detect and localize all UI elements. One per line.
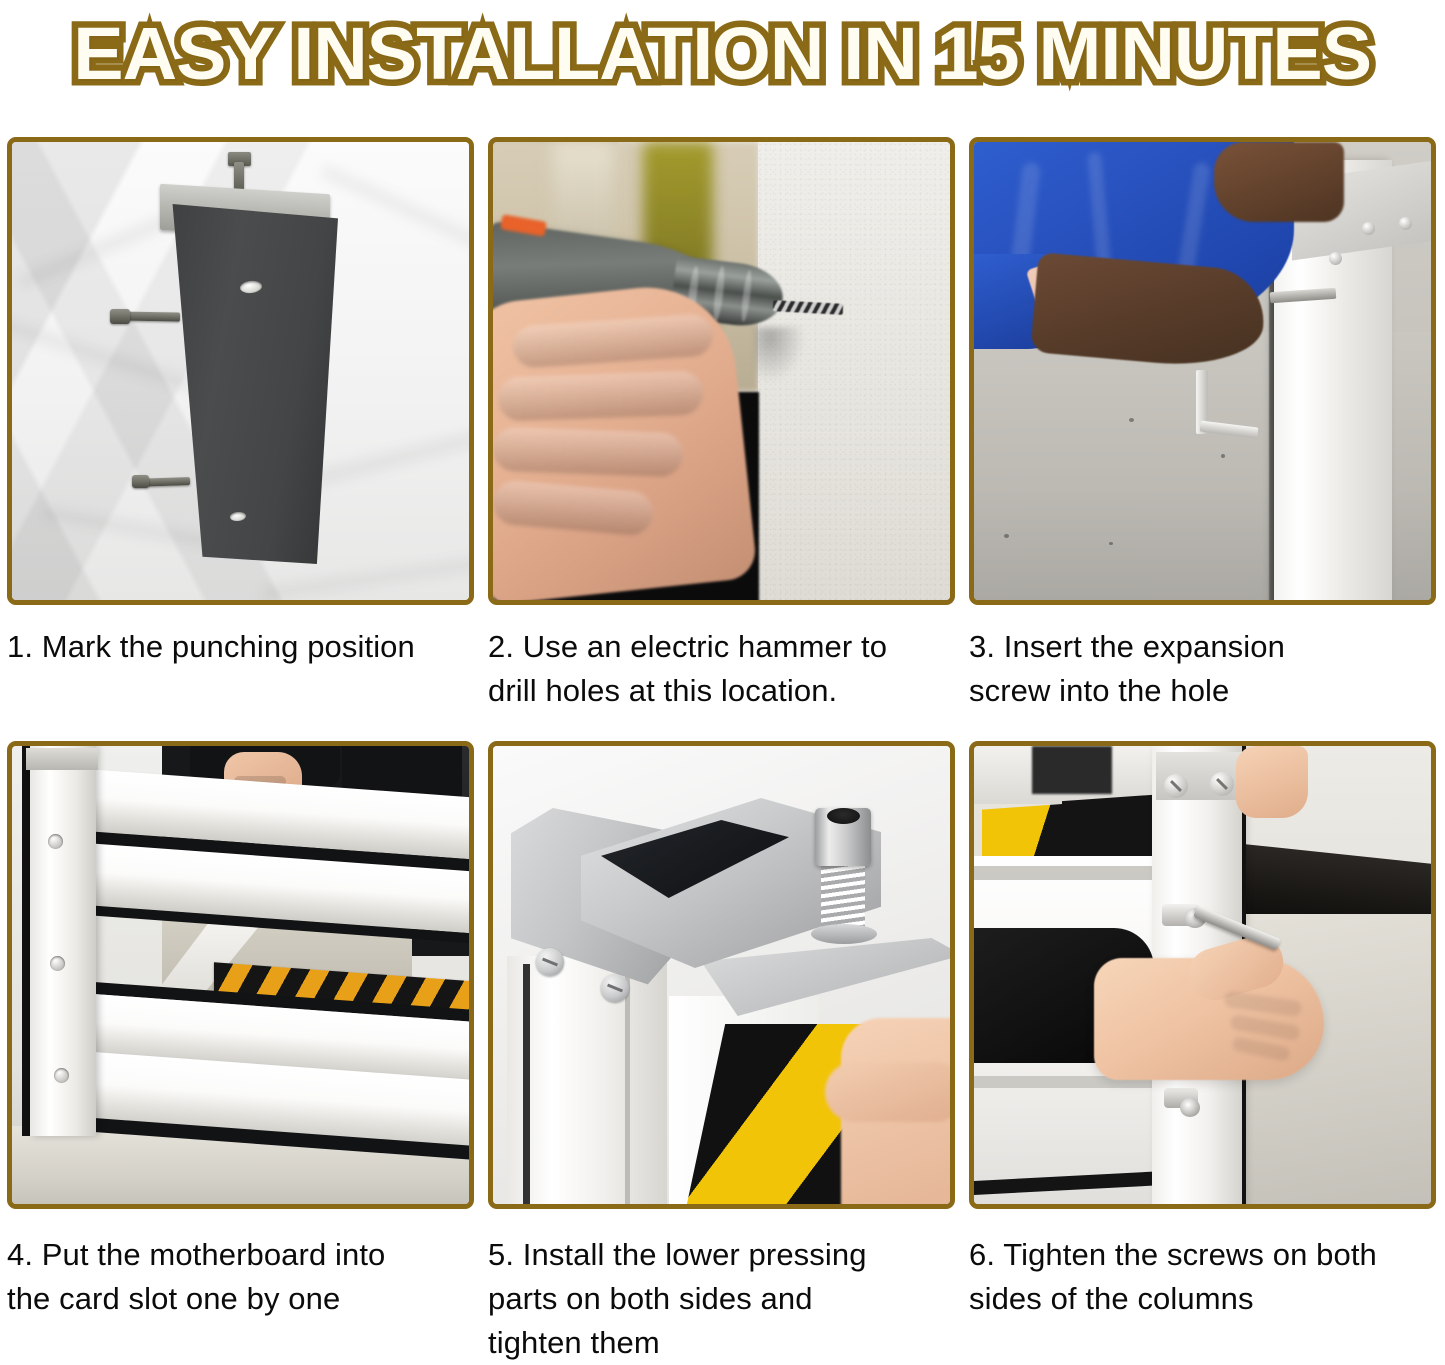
photo-frame-6 bbox=[969, 741, 1436, 1209]
photo-step-1-mark-position bbox=[12, 142, 469, 600]
finger bbox=[493, 427, 684, 478]
steps-row-top: 1. Mark the punching position bbox=[7, 137, 1438, 713]
column-screw bbox=[1362, 222, 1375, 235]
caption-line: the card slot one by one bbox=[7, 1277, 469, 1321]
column-groove bbox=[523, 964, 530, 1204]
step-caption-2: 2. Use an electric hammer to drill holes… bbox=[488, 625, 950, 713]
photo-step-2-drill-holes bbox=[493, 142, 950, 600]
bracket-screw bbox=[601, 974, 629, 1002]
second-hand bbox=[1236, 746, 1308, 818]
post-top-plate bbox=[26, 748, 98, 770]
photo-frame-4 bbox=[7, 741, 474, 1209]
photo-step-3-insert-screw bbox=[974, 142, 1431, 600]
caption-line: screw into the hole bbox=[969, 669, 1431, 713]
bracket-screw bbox=[536, 948, 564, 976]
mounting-column-body bbox=[162, 204, 338, 564]
supporting-fingers bbox=[825, 1062, 950, 1122]
caption-line: drill holes at this location. bbox=[488, 669, 950, 713]
column-screw bbox=[1329, 252, 1342, 265]
caption-line: 5. Install the lower pressing bbox=[488, 1233, 950, 1277]
column-screw bbox=[1399, 217, 1412, 230]
upper-gap-shadow bbox=[1032, 746, 1112, 794]
expansion-bolt-lower-head bbox=[132, 475, 149, 488]
post-screw-hole bbox=[48, 834, 63, 849]
step-card-3: 3. Insert the expansion screw into the h… bbox=[969, 137, 1436, 713]
sheet-wrinkle bbox=[42, 506, 221, 549]
steps-grid: 1. Mark the punching position bbox=[7, 137, 1438, 1365]
post-screw-hole bbox=[54, 1068, 69, 1083]
caption-line: 1. Mark the punching position bbox=[7, 625, 469, 669]
photo-step-6-tighten-screws bbox=[974, 746, 1431, 1204]
step-caption-6: 6. Tighten the screws on both sides of t… bbox=[969, 1233, 1431, 1321]
step-card-4: 4. Put the motherboard into the card slo… bbox=[7, 741, 474, 1365]
photo-frame-2 bbox=[488, 137, 955, 605]
photo-frame-3 bbox=[969, 137, 1436, 605]
step-card-2: 2. Use an electric hammer to drill holes… bbox=[488, 137, 955, 713]
caption-line: tighten them bbox=[488, 1321, 950, 1365]
sheet-wrinkle bbox=[320, 164, 469, 273]
step-caption-1: 1. Mark the punching position bbox=[7, 625, 469, 669]
photo-frame-1 bbox=[7, 137, 474, 605]
step-caption-4: 4. Put the motherboard into the card slo… bbox=[7, 1233, 469, 1321]
sheet-wrinkle bbox=[304, 411, 469, 488]
floor-debris bbox=[1004, 534, 1009, 538]
caption-line: 4. Put the motherboard into bbox=[7, 1233, 469, 1277]
floor-debris bbox=[1221, 454, 1225, 458]
row-spacer bbox=[7, 713, 1438, 741]
floor-debris bbox=[1129, 418, 1134, 422]
floor-debris bbox=[1109, 542, 1113, 545]
step-card-6: 6. Tighten the screws on both sides of t… bbox=[969, 741, 1436, 1365]
step-card-1: 1. Mark the punching position bbox=[7, 137, 474, 713]
step-caption-5: 5. Install the lower pressing parts on b… bbox=[488, 1233, 950, 1365]
caption-line: parts on both sides and bbox=[488, 1277, 950, 1321]
photo-step-4-insert-boards bbox=[12, 746, 469, 1204]
caption-line: 3. Insert the expansion bbox=[969, 625, 1431, 669]
side-screw-lower-head bbox=[1180, 1098, 1200, 1117]
caption-line: sides of the columns bbox=[969, 1277, 1431, 1321]
installation-infographic: EASY INSTALLATION IN 15 MINUTES bbox=[0, 0, 1445, 1352]
column-screw bbox=[1210, 772, 1234, 796]
expansion-bolt-upper-head bbox=[110, 309, 130, 324]
white-column bbox=[507, 956, 667, 1204]
worker-upper-hand bbox=[1214, 142, 1344, 222]
step-caption-3: 3. Insert the expansion screw into the h… bbox=[969, 625, 1431, 713]
caption-line: 2. Use an electric hammer to bbox=[488, 625, 950, 669]
hex-socket bbox=[827, 808, 860, 824]
photo-frame-5 bbox=[488, 741, 955, 1209]
finger bbox=[497, 370, 703, 421]
caption-line: 6. Tighten the screws on both bbox=[969, 1233, 1431, 1277]
column-highlight bbox=[625, 976, 630, 1204]
photo-step-5-pressing-parts bbox=[493, 746, 950, 1204]
steps-row-bottom: 4. Put the motherboard into the card slo… bbox=[7, 741, 1438, 1365]
page-title: EASY INSTALLATION IN 15 MINUTES bbox=[74, 17, 1372, 91]
board-seam bbox=[974, 866, 1164, 880]
post-screw-hole bbox=[50, 956, 65, 971]
column-screw bbox=[1164, 774, 1188, 798]
step-card-5: 5. Install the lower pressing parts on b… bbox=[488, 741, 955, 1365]
drill-dust bbox=[755, 327, 805, 382]
title-banner: EASY INSTALLATION IN 15 MINUTES bbox=[0, 0, 1445, 108]
sheet-wrinkle bbox=[262, 556, 469, 600]
bolt-washer bbox=[811, 924, 877, 944]
